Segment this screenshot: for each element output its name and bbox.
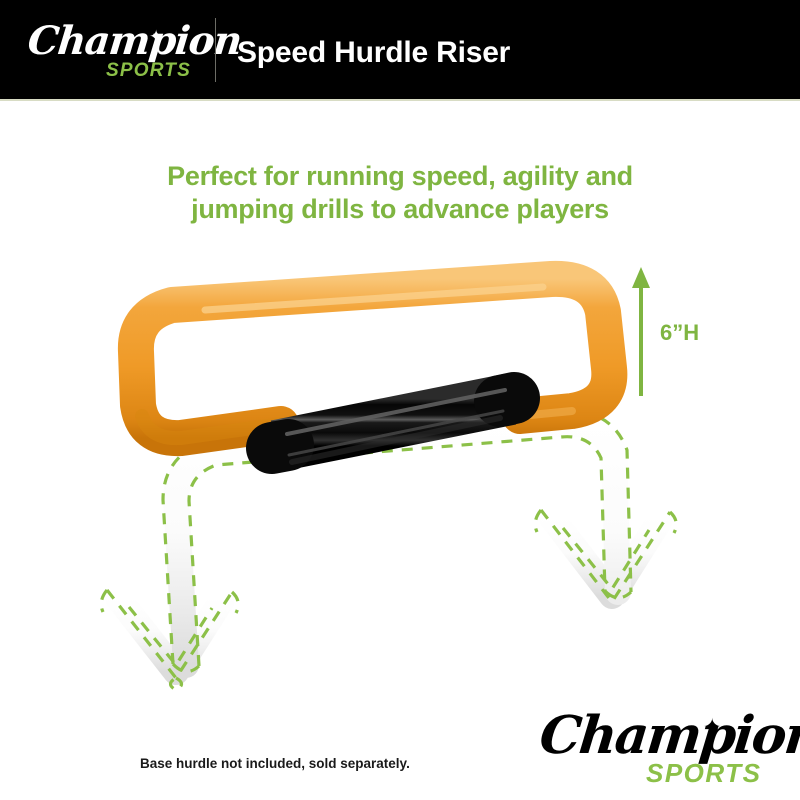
header-divider <box>215 18 216 82</box>
brand-logo-header: Champion ✦ SPORTS <box>28 22 200 80</box>
footer-disclaimer: Base hurdle not included, sold separatel… <box>140 756 410 771</box>
brand-logo-sports-footer: SPORTS <box>646 758 761 789</box>
brand-logo-footer: Champion ✦ SPORTS <box>540 710 790 788</box>
dimension-label: 6”H <box>660 320 699 346</box>
orange-speed-hurdle-riser <box>136 279 609 438</box>
brand-logo-script-footer: Champion <box>537 710 800 762</box>
product-image-canvas: Champion ✦ SPORTS Speed Hurdle Riser Per… <box>0 0 800 800</box>
product-illustration <box>0 0 800 800</box>
dimension-arrow <box>632 267 650 396</box>
marketing-headline: Perfect for running speed, agility and j… <box>100 160 700 227</box>
white-dashed-base-hurdle <box>101 411 676 690</box>
star-icon-footer: ✦ <box>703 716 721 738</box>
black-connector-bar <box>272 390 514 462</box>
brand-logo-sports: SPORTS <box>106 60 191 82</box>
star-icon: ✦ <box>149 28 163 45</box>
page-title: Speed Hurdle Riser <box>237 36 510 70</box>
headline-line-1: Perfect for running speed, agility and <box>100 160 700 193</box>
brand-logo-script: Champion <box>26 22 243 61</box>
header-underline <box>0 99 800 101</box>
headline-line-2: jumping drills to advance players <box>100 193 700 226</box>
